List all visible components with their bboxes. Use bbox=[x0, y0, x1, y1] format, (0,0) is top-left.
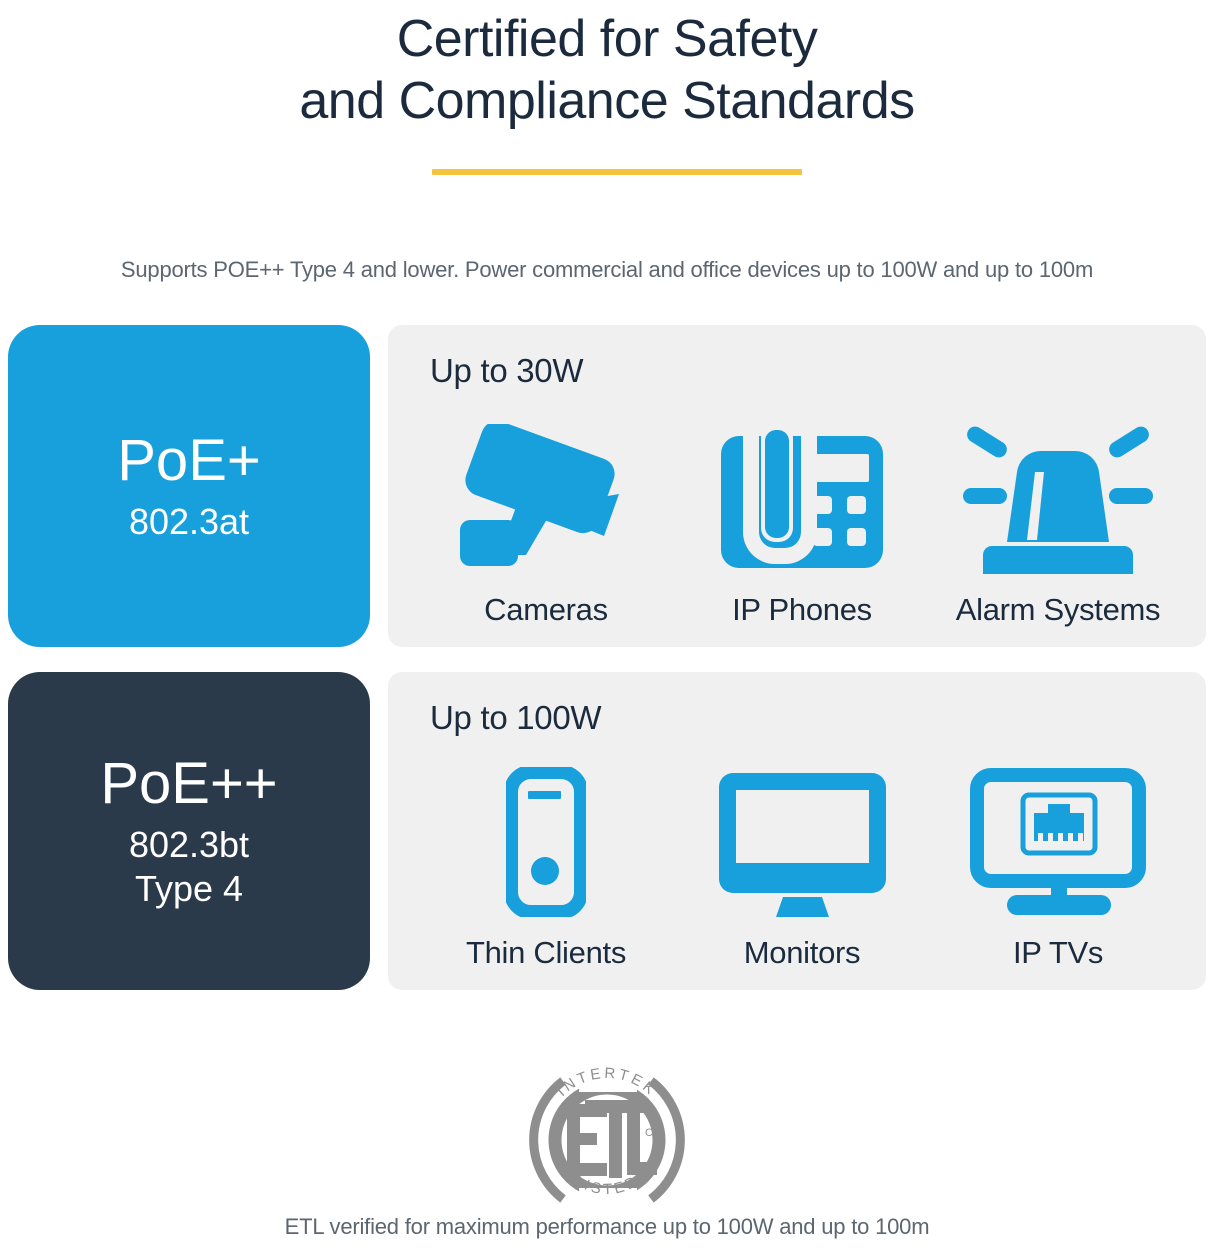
etl-intertek-listed-logo: CM INTERTEK LISTED bbox=[523, 1058, 691, 1208]
tier-badge-poe-plus: PoE+ 802.3at bbox=[8, 325, 370, 647]
tier-standard: 802.3bt Type 4 bbox=[129, 823, 249, 911]
device-label: Monitors bbox=[744, 934, 860, 972]
tier-standard-line-2: Type 4 bbox=[129, 867, 249, 911]
power-heading-30w: Up to 30W bbox=[430, 351, 583, 391]
device-item-monitors: Monitors bbox=[674, 762, 930, 972]
security-camera-icon bbox=[454, 419, 639, 579]
tier-name: PoE+ bbox=[117, 428, 261, 494]
page-title-line-2: and Compliance Standards bbox=[0, 70, 1214, 132]
ip-tv-icon bbox=[968, 762, 1148, 922]
device-label: Alarm Systems bbox=[956, 591, 1161, 629]
device-list-100w: Thin Clients Monitors bbox=[418, 750, 1186, 972]
power-heading-100w: Up to 100W bbox=[430, 698, 601, 738]
tier-standard-line-1: 802.3at bbox=[129, 501, 249, 542]
tier-badge-poe-plus-plus: PoE++ 802.3bt Type 4 bbox=[8, 672, 370, 990]
tier-standard-line-1: 802.3bt bbox=[129, 824, 249, 865]
infographic-page: Certified for Safety and Compliance Stan… bbox=[0, 0, 1214, 1260]
alarm-siren-icon bbox=[963, 419, 1153, 579]
device-label: Thin Clients bbox=[466, 934, 626, 972]
device-list-30w: Cameras bbox=[418, 403, 1186, 629]
page-title: Certified for Safety and Compliance Stan… bbox=[0, 8, 1214, 132]
page-title-line-1: Certified for Safety bbox=[0, 8, 1214, 70]
device-item-ip-phones: IP Phones bbox=[674, 419, 930, 629]
subtitle-text: Supports POE++ Type 4 and lower. Power c… bbox=[0, 255, 1214, 285]
device-item-thin-clients: Thin Clients bbox=[418, 762, 674, 972]
monitor-icon bbox=[715, 762, 890, 922]
ip-phone-icon bbox=[717, 419, 887, 579]
device-label: IP TVs bbox=[1013, 934, 1103, 972]
tier-name: PoE++ bbox=[100, 751, 277, 817]
thin-client-tower-icon bbox=[506, 762, 586, 922]
title-accent-rule bbox=[432, 169, 802, 175]
device-panel-100w: Up to 100W Thin Clients bbox=[388, 672, 1206, 990]
etl-caption-text: ETL verified for maximum performance up … bbox=[0, 1212, 1214, 1242]
device-panel-30w: Up to 30W Cameras bbox=[388, 325, 1206, 647]
device-label: IP Phones bbox=[732, 591, 872, 629]
etl-logo-wrap: CM INTERTEK LISTED bbox=[0, 1058, 1214, 1208]
device-label: Cameras bbox=[484, 591, 608, 629]
device-item-cameras: Cameras bbox=[418, 419, 674, 629]
device-item-alarm-systems: Alarm Systems bbox=[930, 419, 1186, 629]
etl-superscript-text: CM bbox=[645, 1127, 662, 1139]
tier-standard: 802.3at bbox=[129, 500, 249, 544]
device-item-ip-tvs: IP TVs bbox=[930, 762, 1186, 972]
